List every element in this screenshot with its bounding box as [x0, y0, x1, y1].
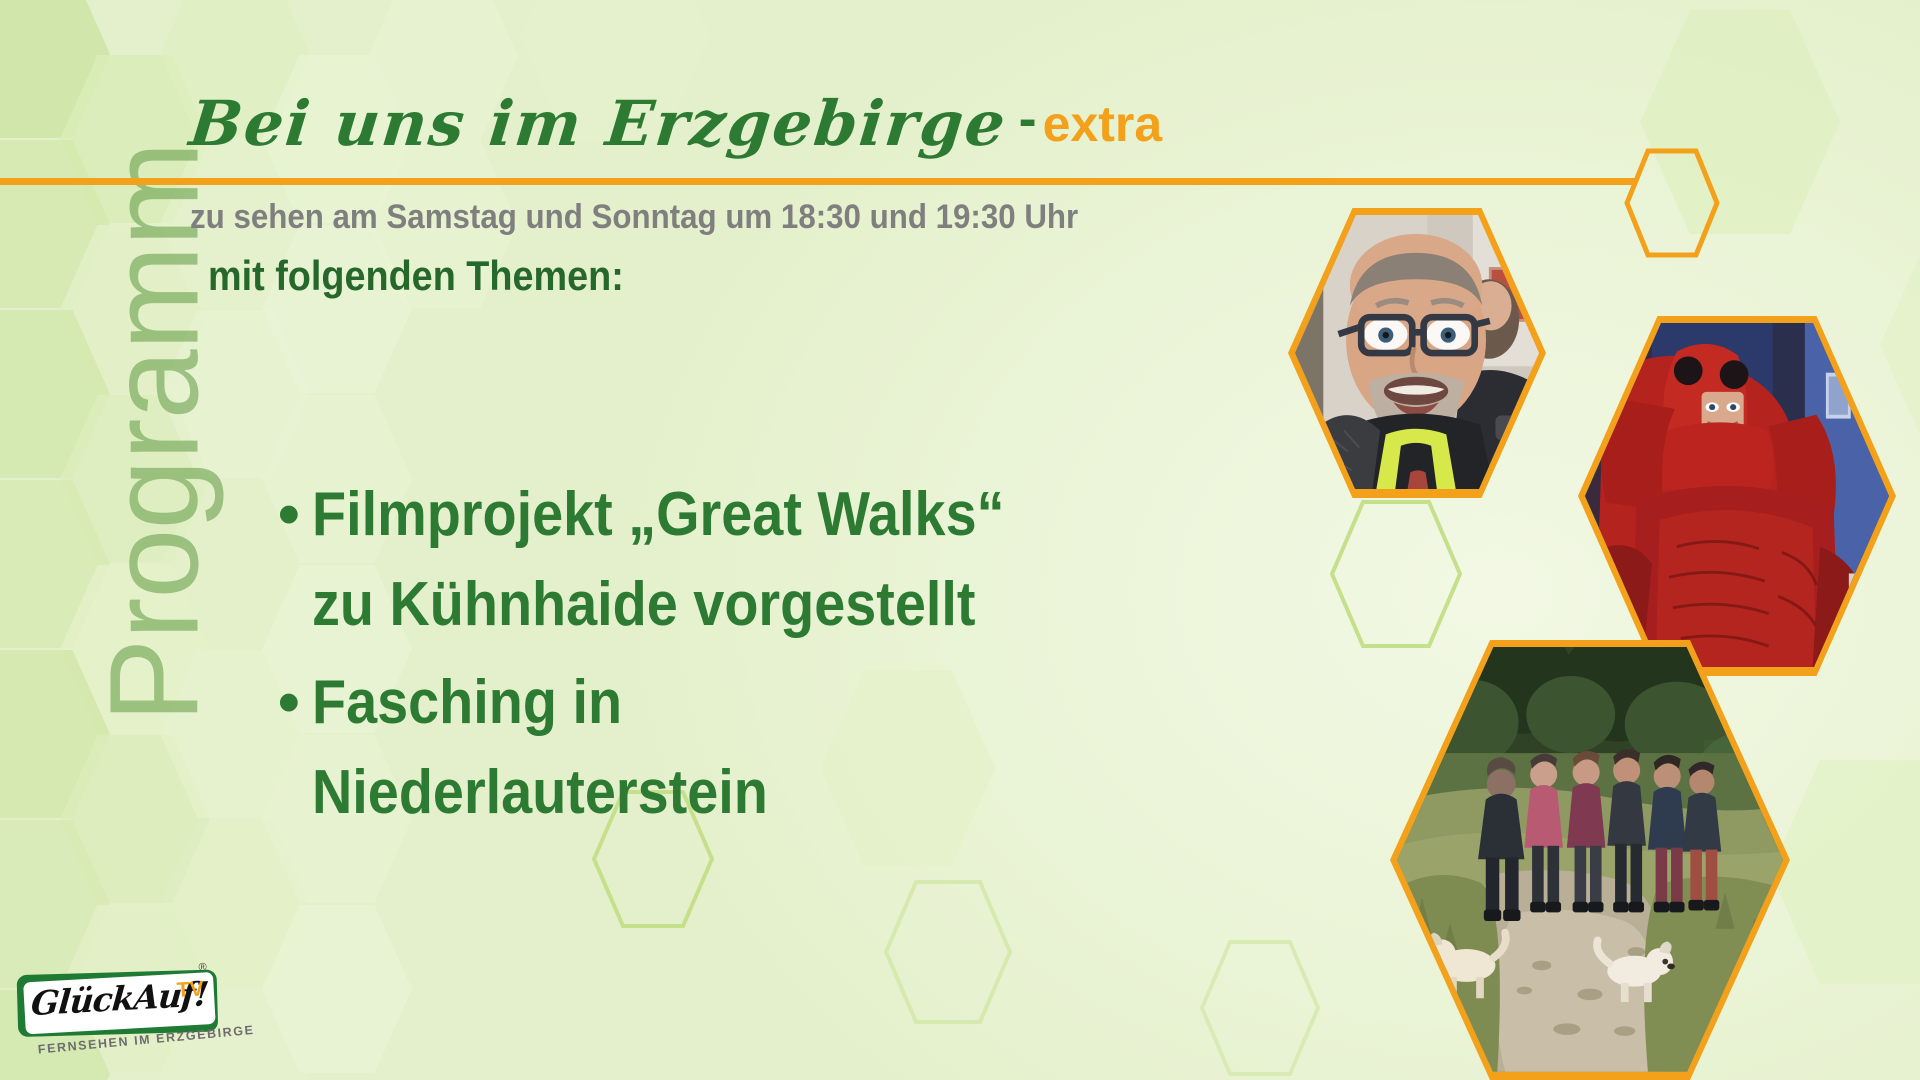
- list-item: • Fasching in Niederlauterstein: [278, 658, 1238, 838]
- hiking-group-image: [1397, 647, 1783, 1072]
- page-title-accent: extra: [1043, 99, 1163, 149]
- page-title-script: Bei uns im Erzgebirge: [187, 93, 1010, 155]
- topics-intro-label: mit folgenden Themen:: [208, 252, 624, 300]
- hex-outline-deco: [1330, 500, 1462, 648]
- bullet-marker-icon: •: [278, 658, 312, 748]
- photo-clip: [1397, 647, 1783, 1073]
- bullet-marker-icon: •: [278, 470, 312, 560]
- hex-deco: [0, 820, 110, 988]
- airtime-text: zu sehen am Samstag und Sonntag um 18:30…: [190, 198, 1078, 237]
- page-title-dash: -: [1019, 92, 1037, 146]
- list-item-label: Fasching in Niederlauterstein: [312, 658, 1032, 838]
- registered-trademark-icon: ®: [198, 961, 207, 973]
- hex-outline-accent-icon: [1624, 148, 1720, 263]
- slide-canvas: Programm Bei uns im Erzgebirge-extra zu …: [0, 0, 1920, 1080]
- hex-deco: [262, 225, 412, 393]
- carnival-costume-image: [1585, 323, 1889, 667]
- logo-tv-suffix: TV: [176, 977, 204, 1002]
- title-divider-rule: [0, 178, 1636, 185]
- list-item-label: Filmprojekt „Great Walks“ zu Kühnhaide v…: [312, 470, 1032, 650]
- topics-list: • Filmprojekt „Great Walks“ zu Kühnhaide…: [278, 470, 1238, 846]
- sidebar-vertical-label: Programm: [82, 83, 227, 783]
- hex-outline-deco: [1200, 940, 1320, 1076]
- hex-outline-deco: [884, 880, 1012, 1024]
- hex-deco: [262, 905, 412, 1073]
- hex-deco: [1770, 760, 1920, 984]
- page-title: Bei uns im Erzgebirge-extra: [190, 92, 1162, 155]
- photo-hexagon-portrait: [1288, 208, 1546, 498]
- brand-logo[interactable]: GlückAuf! TV ® FERNSEHEN IM ERZGEBIRGE: [16, 962, 231, 1066]
- list-item: • Filmprojekt „Great Walks“ zu Kühnhaide…: [278, 470, 1238, 650]
- photo-hexagon-hikers: [1390, 640, 1790, 1080]
- photo-clip: [1585, 323, 1889, 669]
- photo-hexagon-carnival: [1578, 316, 1896, 676]
